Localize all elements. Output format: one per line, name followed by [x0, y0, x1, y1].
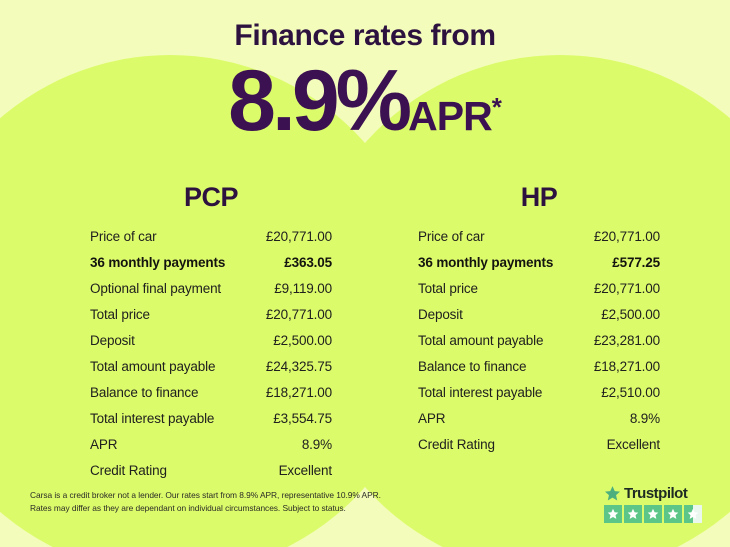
headline-rate: 8.9%APR* [0, 58, 730, 144]
plan-row-label: APR [90, 437, 117, 452]
plan-row: Total interest payable£2,510.00 [418, 385, 660, 411]
plan-row-value: £18,271.00 [266, 385, 332, 400]
star-icon [667, 508, 679, 520]
plan-row: Balance to finance£18,271.00 [90, 385, 332, 411]
plan-row: Total amount payable£24,325.75 [90, 359, 332, 385]
disclaimer-line-2: Rates may differ as they are dependant o… [30, 502, 460, 515]
plan-row: Deposit£2,500.00 [418, 307, 660, 333]
plan-row-value: £24,325.75 [266, 359, 332, 374]
finance-rates-poster: Finance rates from 8.9%APR* PCP Price of… [0, 0, 730, 547]
plan-row-value: Excellent [279, 463, 332, 478]
poster-content: Finance rates from 8.9%APR* PCP Price of… [0, 0, 730, 547]
plan-row-value: £20,771.00 [266, 307, 332, 322]
trustpilot-rating-stars [604, 505, 708, 523]
disclaimer-line-1: Carsa is a credit broker not a lender. O… [30, 489, 460, 502]
plan-row: APR8.9% [90, 437, 332, 463]
plan-row: Optional final payment£9,119.00 [90, 281, 332, 307]
plan-row-label: Deposit [90, 333, 135, 348]
plan-row-value: £23,281.00 [594, 333, 660, 348]
plan-row-value: £20,771.00 [594, 281, 660, 296]
plan-row: APR8.9% [418, 411, 660, 437]
plan-row: Price of car£20,771.00 [90, 229, 332, 255]
star-icon [604, 485, 621, 502]
plan-row-label: Total amount payable [418, 333, 543, 348]
plan-row: Balance to finance£18,271.00 [418, 359, 660, 385]
plan-row: 36 monthly payments£363.05 [90, 255, 332, 281]
plan-row-value: 8.9% [630, 411, 660, 426]
trustpilot-star [644, 505, 662, 523]
trustpilot-star [624, 505, 642, 523]
trustpilot-star [664, 505, 682, 523]
rate-value: 8.9% [228, 53, 408, 149]
plan-row-label: Deposit [418, 307, 463, 322]
page-title: Finance rates from [0, 19, 730, 53]
plan-row-label: Credit Rating [90, 463, 167, 478]
rate-unit: APR [408, 93, 492, 139]
plan-row: Credit RatingExcellent [418, 437, 660, 463]
plan-row-value: 8.9% [302, 437, 332, 452]
plan-row-label: Optional final payment [90, 281, 221, 296]
plan-column-hp: HP Price of car£20,771.0036 monthly paym… [418, 184, 660, 463]
plan-title-hp: HP [418, 184, 660, 211]
plan-row-label: Total price [90, 307, 150, 322]
plan-row-value: Excellent [607, 437, 660, 452]
plan-row-value: £2,500.00 [601, 307, 660, 322]
plan-row: Total price£20,771.00 [418, 281, 660, 307]
star-icon [647, 508, 659, 520]
plan-row-label: Price of car [418, 229, 484, 244]
plan-title-pcp: PCP [90, 184, 332, 211]
plan-row-value: £3,554.75 [273, 411, 332, 426]
plan-row-value: £20,771.00 [594, 229, 660, 244]
trustpilot-brand: Trustpilot [604, 484, 708, 502]
plan-row: Price of car£20,771.00 [418, 229, 660, 255]
plan-row: Credit RatingExcellent [90, 463, 332, 489]
plan-row: Total price£20,771.00 [90, 307, 332, 333]
plan-row-label: Total interest payable [90, 411, 214, 426]
plan-row: Total amount payable£23,281.00 [418, 333, 660, 359]
plan-row: 36 monthly payments£577.25 [418, 255, 660, 281]
plan-rows-pcp: Price of car£20,771.0036 monthly payment… [90, 229, 332, 489]
plan-row-label: Credit Rating [418, 437, 495, 452]
plan-rows-hp: Price of car£20,771.0036 monthly payment… [418, 229, 660, 463]
plan-row-label: 36 monthly payments [90, 255, 225, 270]
trustpilot-badge[interactable]: Trustpilot [604, 484, 708, 523]
plan-row-label: Balance to finance [90, 385, 198, 400]
star-icon [607, 508, 619, 520]
plan-row-label: APR [418, 411, 445, 426]
plan-row-value: £2,500.00 [273, 333, 332, 348]
plan-row-value: £20,771.00 [266, 229, 332, 244]
star-icon [627, 508, 639, 520]
disclaimer: Carsa is a credit broker not a lender. O… [30, 489, 460, 515]
trustpilot-wordmark: Trustpilot [624, 486, 687, 501]
plan-column-pcp: PCP Price of car£20,771.0036 monthly pay… [90, 184, 332, 489]
star-icon [687, 508, 699, 520]
plan-row-label: Price of car [90, 229, 156, 244]
plan-row-label: Total price [418, 281, 478, 296]
plan-row-value: £2,510.00 [601, 385, 660, 400]
rate-asterisk: * [492, 92, 502, 122]
plan-row-value: £18,271.00 [594, 359, 660, 374]
trustpilot-star [604, 505, 622, 523]
plan-row: Deposit£2,500.00 [90, 333, 332, 359]
plan-row-label: Total interest payable [418, 385, 542, 400]
plan-row-value: £9,119.00 [274, 281, 332, 296]
plan-row-label: Balance to finance [418, 359, 526, 374]
plan-row: Total interest payable£3,554.75 [90, 411, 332, 437]
plan-row-label: Total amount payable [90, 359, 215, 374]
plan-row-value: £577.25 [612, 255, 660, 270]
plan-row-label: 36 monthly payments [418, 255, 553, 270]
trustpilot-star [684, 505, 702, 523]
plan-row-value: £363.05 [284, 255, 332, 270]
